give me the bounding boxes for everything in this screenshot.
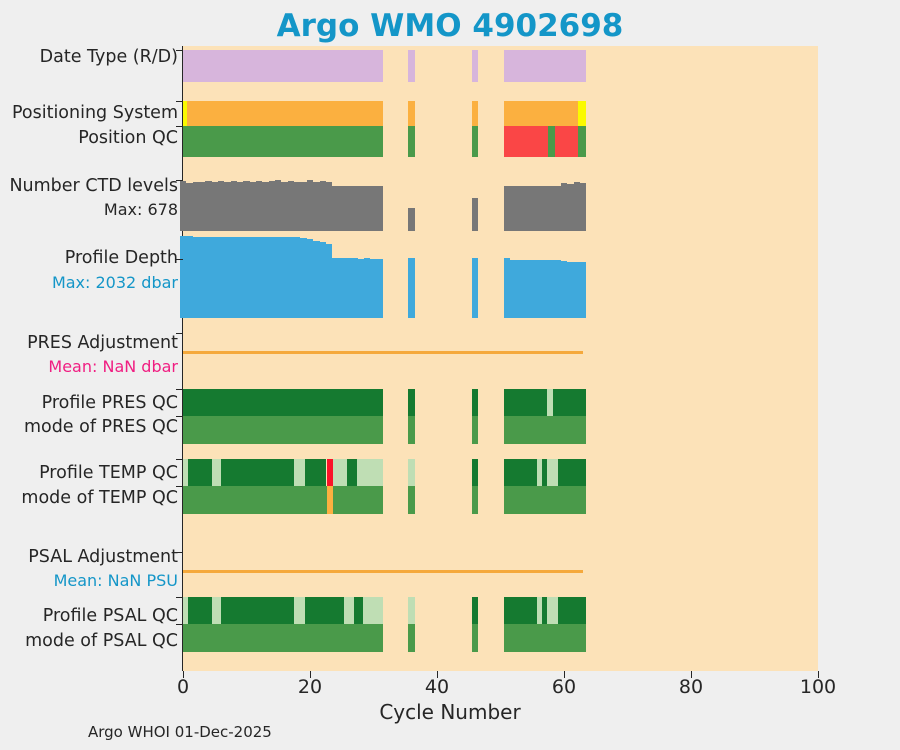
band-segment	[408, 101, 414, 126]
band-segment	[354, 597, 363, 624]
band-segment	[408, 597, 414, 624]
band-segment	[578, 101, 586, 126]
x-axis-label: Cycle Number	[0, 700, 900, 724]
band-segment	[183, 486, 327, 514]
band-segment	[504, 624, 587, 652]
band-segment	[472, 126, 478, 157]
label-profile-pres-qc: Profile PRES QC	[42, 394, 178, 414]
data-bar	[580, 262, 586, 318]
y-axis-tick	[176, 333, 183, 334]
band-segment	[472, 50, 478, 82]
data-bar	[472, 198, 478, 231]
x-axis-tick-label: 40	[425, 676, 449, 698]
band-segment	[183, 416, 383, 444]
data-bar	[408, 208, 414, 231]
band-segment	[408, 50, 414, 82]
band-segment	[344, 597, 354, 624]
band-segment	[472, 101, 478, 126]
band-segment	[294, 459, 305, 486]
band-segment	[408, 459, 414, 486]
band-segment	[221, 459, 294, 486]
band-segment	[504, 101, 578, 126]
x-axis-tick-label: 0	[177, 676, 189, 698]
y-axis-tick	[176, 486, 183, 487]
band-segment	[305, 459, 327, 486]
band-segment	[504, 597, 538, 624]
band-segment	[472, 459, 478, 486]
data-bar	[580, 183, 586, 231]
band-segment	[183, 50, 383, 82]
y-axis-tick	[176, 624, 183, 625]
label-date-type: Date Type (R/D)	[40, 48, 178, 68]
y-axis-tick	[176, 389, 183, 390]
y-axis-tick	[176, 101, 183, 102]
label-mode-pres-qc: mode of PRES QC	[24, 418, 178, 438]
label-profile-depth: Profile Depth	[65, 249, 178, 269]
label-mode-temp-qc: mode of TEMP QC	[21, 489, 178, 509]
band-segment	[578, 126, 586, 157]
adjustment-line	[183, 351, 583, 354]
band-segment	[333, 486, 383, 514]
label-psal-adjustment: PSAL Adjustment	[28, 548, 178, 568]
band-segment	[212, 597, 221, 624]
band-segment	[472, 416, 478, 444]
label-profile-depth-max: Max: 2032 dbar	[52, 274, 178, 292]
band-segment	[547, 597, 557, 624]
band-segment	[221, 597, 294, 624]
band-segment	[188, 459, 212, 486]
data-bar	[377, 259, 383, 318]
band-segment	[408, 624, 414, 652]
label-profile-temp-qc: Profile TEMP QC	[39, 464, 178, 484]
band-segment	[183, 624, 383, 652]
label-number-ctd-levels: Number CTD levels	[9, 177, 178, 197]
x-axis-tick-label: 100	[800, 676, 836, 698]
band-segment	[408, 416, 414, 444]
label-position-qc: Position QC	[78, 129, 178, 149]
band-segment	[504, 459, 538, 486]
band-segment	[333, 459, 347, 486]
data-bar	[408, 258, 414, 318]
y-axis-tick	[176, 597, 183, 598]
footer-credit: Argo WHOI 01-Dec-2025	[88, 723, 272, 741]
band-segment	[408, 389, 414, 416]
band-segment	[472, 597, 478, 624]
band-segment	[504, 486, 587, 514]
y-axis-tick	[176, 459, 183, 460]
band-segment	[555, 126, 578, 157]
label-psal-mean: Mean: NaN PSU	[54, 572, 178, 590]
adjustment-line	[183, 570, 583, 573]
band-segment	[548, 126, 555, 157]
band-segment	[183, 126, 383, 157]
band-segment	[558, 459, 587, 486]
x-axis-tick-label: 60	[552, 676, 576, 698]
label-profile-psal-qc: Profile PSAL QC	[43, 607, 178, 627]
band-segment	[294, 597, 305, 624]
y-axis-tick	[176, 552, 183, 553]
band-segment	[547, 459, 557, 486]
band-segment	[472, 624, 478, 652]
label-pres-adjustment: PRES Adjustment	[27, 334, 178, 354]
data-bar	[377, 186, 383, 231]
y-axis-tick	[176, 126, 183, 127]
band-segment	[363, 597, 383, 624]
band-segment	[212, 459, 221, 486]
y-axis-tick	[176, 180, 183, 181]
band-segment	[187, 101, 383, 126]
data-bar	[472, 258, 478, 318]
band-segment	[357, 459, 383, 486]
label-pres-mean: Mean: NaN dbar	[48, 358, 178, 376]
band-segment	[408, 486, 414, 514]
band-segment	[558, 597, 587, 624]
label-mode-psal-qc: mode of PSAL QC	[25, 632, 178, 652]
y-axis-tick	[176, 416, 183, 417]
band-segment	[347, 459, 357, 486]
y-axis-tick	[176, 50, 183, 51]
band-segment	[504, 50, 587, 82]
band-segment	[504, 416, 587, 444]
x-axis-tick-label: 80	[679, 676, 703, 698]
band-segment	[183, 389, 383, 416]
band-segment	[504, 389, 547, 416]
band-segment	[408, 126, 414, 157]
label-number-ctd-max: Max: 678	[104, 201, 178, 219]
band-segment	[472, 486, 478, 514]
band-segment	[553, 389, 586, 416]
x-axis-tick-label: 20	[298, 676, 322, 698]
band-segment	[188, 597, 212, 624]
label-positioning-system: Positioning System	[12, 104, 178, 124]
band-segment	[472, 389, 478, 416]
band-segment	[504, 126, 548, 157]
page-title: Argo WMO 4902698	[0, 8, 900, 44]
y-axis-tick	[176, 259, 183, 260]
band-segment	[305, 597, 344, 624]
